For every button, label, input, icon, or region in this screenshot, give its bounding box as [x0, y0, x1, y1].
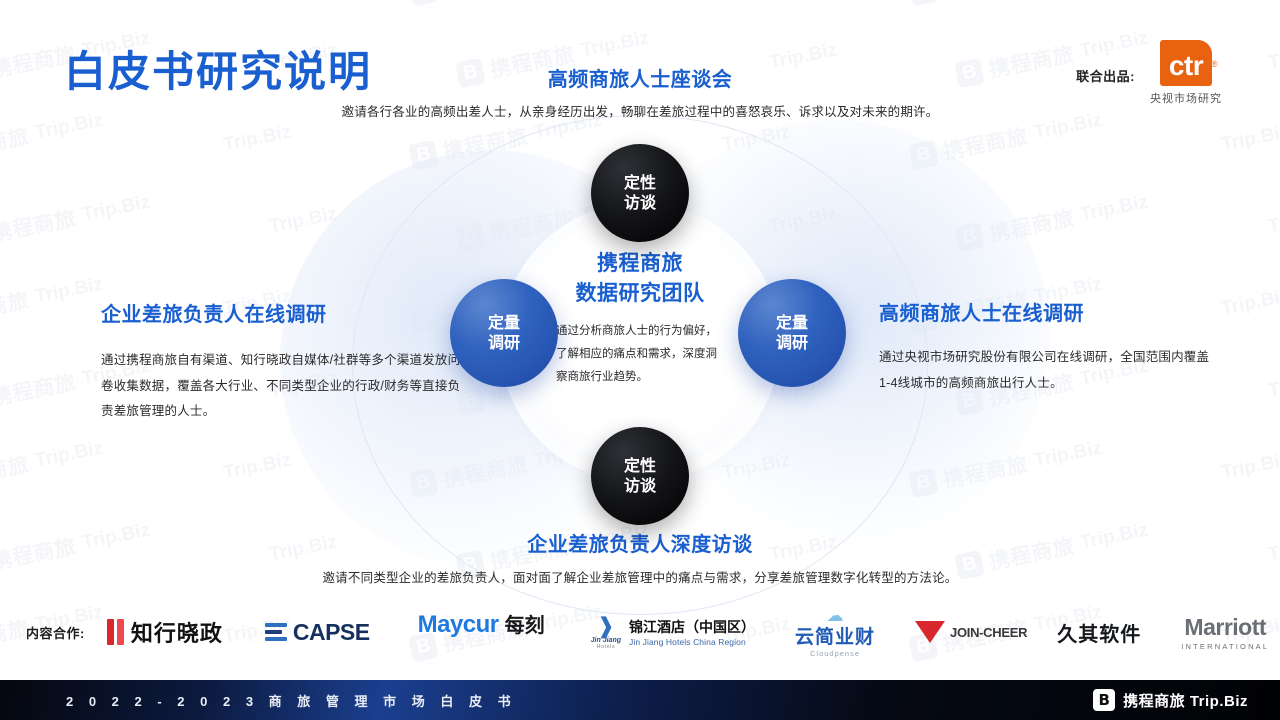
- marriott-logo-en: Marriott: [1181, 614, 1269, 641]
- watermark-item: B携程商旅Trip.Biz: [907, 0, 1104, 8]
- partner-logo-capse: CAPSE: [265, 609, 370, 655]
- node-left-line1: 定量: [488, 313, 520, 333]
- watermark-en: Trip.Biz: [80, 192, 152, 227]
- left-quadrant-body: 通过携程商旅自有渠道、知行晓政自媒体/社群等多个渠道发放问卷收集数据，覆盖各大行…: [101, 348, 461, 425]
- partner-label: 内容合作:: [26, 623, 85, 642]
- node-right-quantitative-survey[interactable]: 定量 调研: [738, 279, 846, 387]
- watermark-cn: 携程商旅: [0, 284, 31, 330]
- watermark-en: Trip.Biz: [1266, 368, 1280, 403]
- right-quadrant-heading: 高频商旅人士在线调研: [879, 297, 1084, 326]
- watermark-en: Trip.Biz: [1220, 122, 1280, 157]
- jinjiang-swirl-icon: ❱ Jin Jiang Hotels: [591, 615, 621, 650]
- watermark-en: Trip.Biz: [33, 438, 105, 473]
- top-quadrant-heading: 高频商旅人士座谈会: [0, 63, 1280, 92]
- bottom-quadrant-heading: 企业差旅负责人深度访谈: [0, 528, 1280, 557]
- partner-logo-marriott: Marriott INTERNATIONAL: [1181, 609, 1269, 655]
- center-core-title: 携程商旅 数据研究团队: [512, 248, 768, 309]
- watermark-en: Trip.Biz: [1220, 286, 1280, 321]
- right-quadrant-body: 通过央视市场研究股份有限公司在线调研，全国范围内覆盖1-4线城市的高频商旅出行人…: [879, 345, 1219, 396]
- watermark-cn: 携程商旅: [0, 0, 31, 2]
- watermark-en: Trip.Biz: [1032, 438, 1104, 473]
- partner-logo-zhixing: 知行晓政: [107, 609, 223, 655]
- center-core-title-line1: 携程商旅: [512, 248, 768, 278]
- maycur-logo-en: Maycur: [418, 611, 499, 639]
- cloudpense-logo-cn: 云简业财: [795, 622, 875, 649]
- center-core-title-line2: 数据研究团队: [512, 278, 768, 308]
- jinjiang-logo-cn: 锦江酒店（中国区）: [629, 617, 755, 637]
- tripbiz-logo-icon: B: [1093, 689, 1115, 711]
- watermark-b-icon: B: [409, 0, 439, 6]
- watermark-item: B携程商旅Trip.Biz: [0, 270, 106, 337]
- bottom-quadrant-body: 邀请不同类型企业的差旅负责人，面对面了解企业差旅管理中的痛点与需求，分享差旅管理…: [0, 566, 1280, 592]
- watermark-item: Trip.Biz: [1266, 200, 1280, 243]
- watermark-item: B携程商旅Trip.Biz: [0, 434, 106, 501]
- footer-brand-text: 携程商旅 Trip.Biz: [1123, 690, 1248, 711]
- node-left-line2: 调研: [488, 333, 520, 353]
- node-left-quantitative-survey[interactable]: 定量 调研: [450, 279, 558, 387]
- watermark-en: Trip.Biz: [33, 274, 105, 309]
- watermark-cn: 携程商旅: [0, 120, 31, 166]
- top-quadrant-body: 邀请各行各业的高频出差人士，从亲身经历出发，畅聊在差旅过程中的喜怒哀乐、诉求以及…: [0, 100, 1280, 126]
- watermark-cn: 携程商旅: [0, 448, 31, 494]
- maycur-logo-cn: 每刻: [505, 609, 545, 638]
- watermark-item: B携程商旅Trip.Biz: [0, 188, 152, 255]
- watermark-en: Trip.Biz: [1266, 204, 1280, 239]
- cloudpense-logo-en: Cloudpense: [795, 649, 875, 658]
- node-right-line1: 定量: [776, 313, 808, 333]
- node-top-line2: 访谈: [624, 193, 656, 213]
- footer-bar: 2 0 2 2 - 2 0 2 3 商 旅 管 理 市 场 白 皮 书 B 携程…: [0, 680, 1280, 720]
- footer-title: 2 0 2 2 - 2 0 2 3 商 旅 管 理 市 场 白 皮 书: [66, 691, 517, 710]
- capse-logo-text: CAPSE: [293, 619, 370, 646]
- joincheer-triangle-icon: [915, 621, 945, 643]
- watermark-b-icon: B: [908, 0, 938, 6]
- partner-logo-joincheer-cn: 久其软件: [1057, 609, 1141, 655]
- node-bottom-line1: 定性: [624, 456, 656, 476]
- node-bottom-qualitative-interview[interactable]: 定性 访谈: [591, 427, 689, 525]
- jinjiang-logo-en: Jin Jiang Hotels China Region: [629, 637, 755, 647]
- watermark-cn: 携程商旅: [0, 366, 78, 412]
- partner-logos-strip: 内容合作: 知行晓政 CAPSE Maycur 每刻 ❱ Jin Jiang H…: [0, 600, 1280, 664]
- watermark-item: Trip.Biz: [1266, 364, 1280, 407]
- watermark-cn: 携程商旅: [940, 0, 1030, 2]
- watermark-item: Trip.Biz: [1219, 446, 1280, 489]
- jinjiang-mark-sub1: Jin Jiang: [591, 637, 621, 644]
- center-core-description: 通过分析商旅人士的行为偏好，了解相应的痛点和需求，深度洞察商旅行业趋势。: [556, 320, 728, 389]
- marriott-logo-sub: INTERNATIONAL: [1181, 642, 1269, 651]
- watermark-en: Trip.Biz: [1220, 450, 1280, 485]
- watermark-item: B携程商旅Trip.Biz: [408, 0, 605, 8]
- watermark-cn: 携程商旅: [441, 0, 531, 2]
- watermark-en: Trip.Biz: [579, 28, 651, 63]
- left-quadrant-heading: 企业差旅负责人在线调研: [101, 298, 327, 327]
- joincheer-logo-en: JOIN-CHEER: [950, 625, 1027, 640]
- node-top-line1: 定性: [624, 173, 656, 193]
- watermark-item: Trip.Biz: [1219, 282, 1280, 325]
- jinjiang-mark-sub2: Hotels: [591, 644, 621, 650]
- watermark-en: Trip.Biz: [221, 450, 293, 485]
- watermark-item: B携程商旅Trip.Biz: [0, 0, 106, 8]
- partner-logo-maycur: Maycur 每刻: [418, 609, 545, 655]
- partner-logo-cloudpense: ☁ 云简业财 Cloudpense: [795, 609, 875, 655]
- capse-bars-icon: [265, 623, 287, 641]
- node-top-qualitative-interview[interactable]: 定性 访谈: [591, 144, 689, 242]
- zhixing-logo-text: 知行晓政: [131, 616, 223, 648]
- partner-logo-joincheer: JOIN-CHEER: [915, 609, 1027, 655]
- node-bottom-line2: 访谈: [624, 476, 656, 496]
- node-right-line2: 调研: [776, 333, 808, 353]
- zhixing-bars-icon: [107, 619, 124, 645]
- footer-brand: B 携程商旅 Trip.Biz: [1093, 689, 1248, 711]
- watermark-item: Trip.Biz: [220, 446, 293, 489]
- watermark-cn: 携程商旅: [0, 202, 78, 248]
- watermark-en: Trip.Biz: [221, 122, 293, 157]
- watermark-en: Trip.Biz: [1078, 192, 1150, 227]
- partner-logo-jinjiang: ❱ Jin Jiang Hotels 锦江酒店（中国区） Jin Jiang H…: [591, 609, 755, 655]
